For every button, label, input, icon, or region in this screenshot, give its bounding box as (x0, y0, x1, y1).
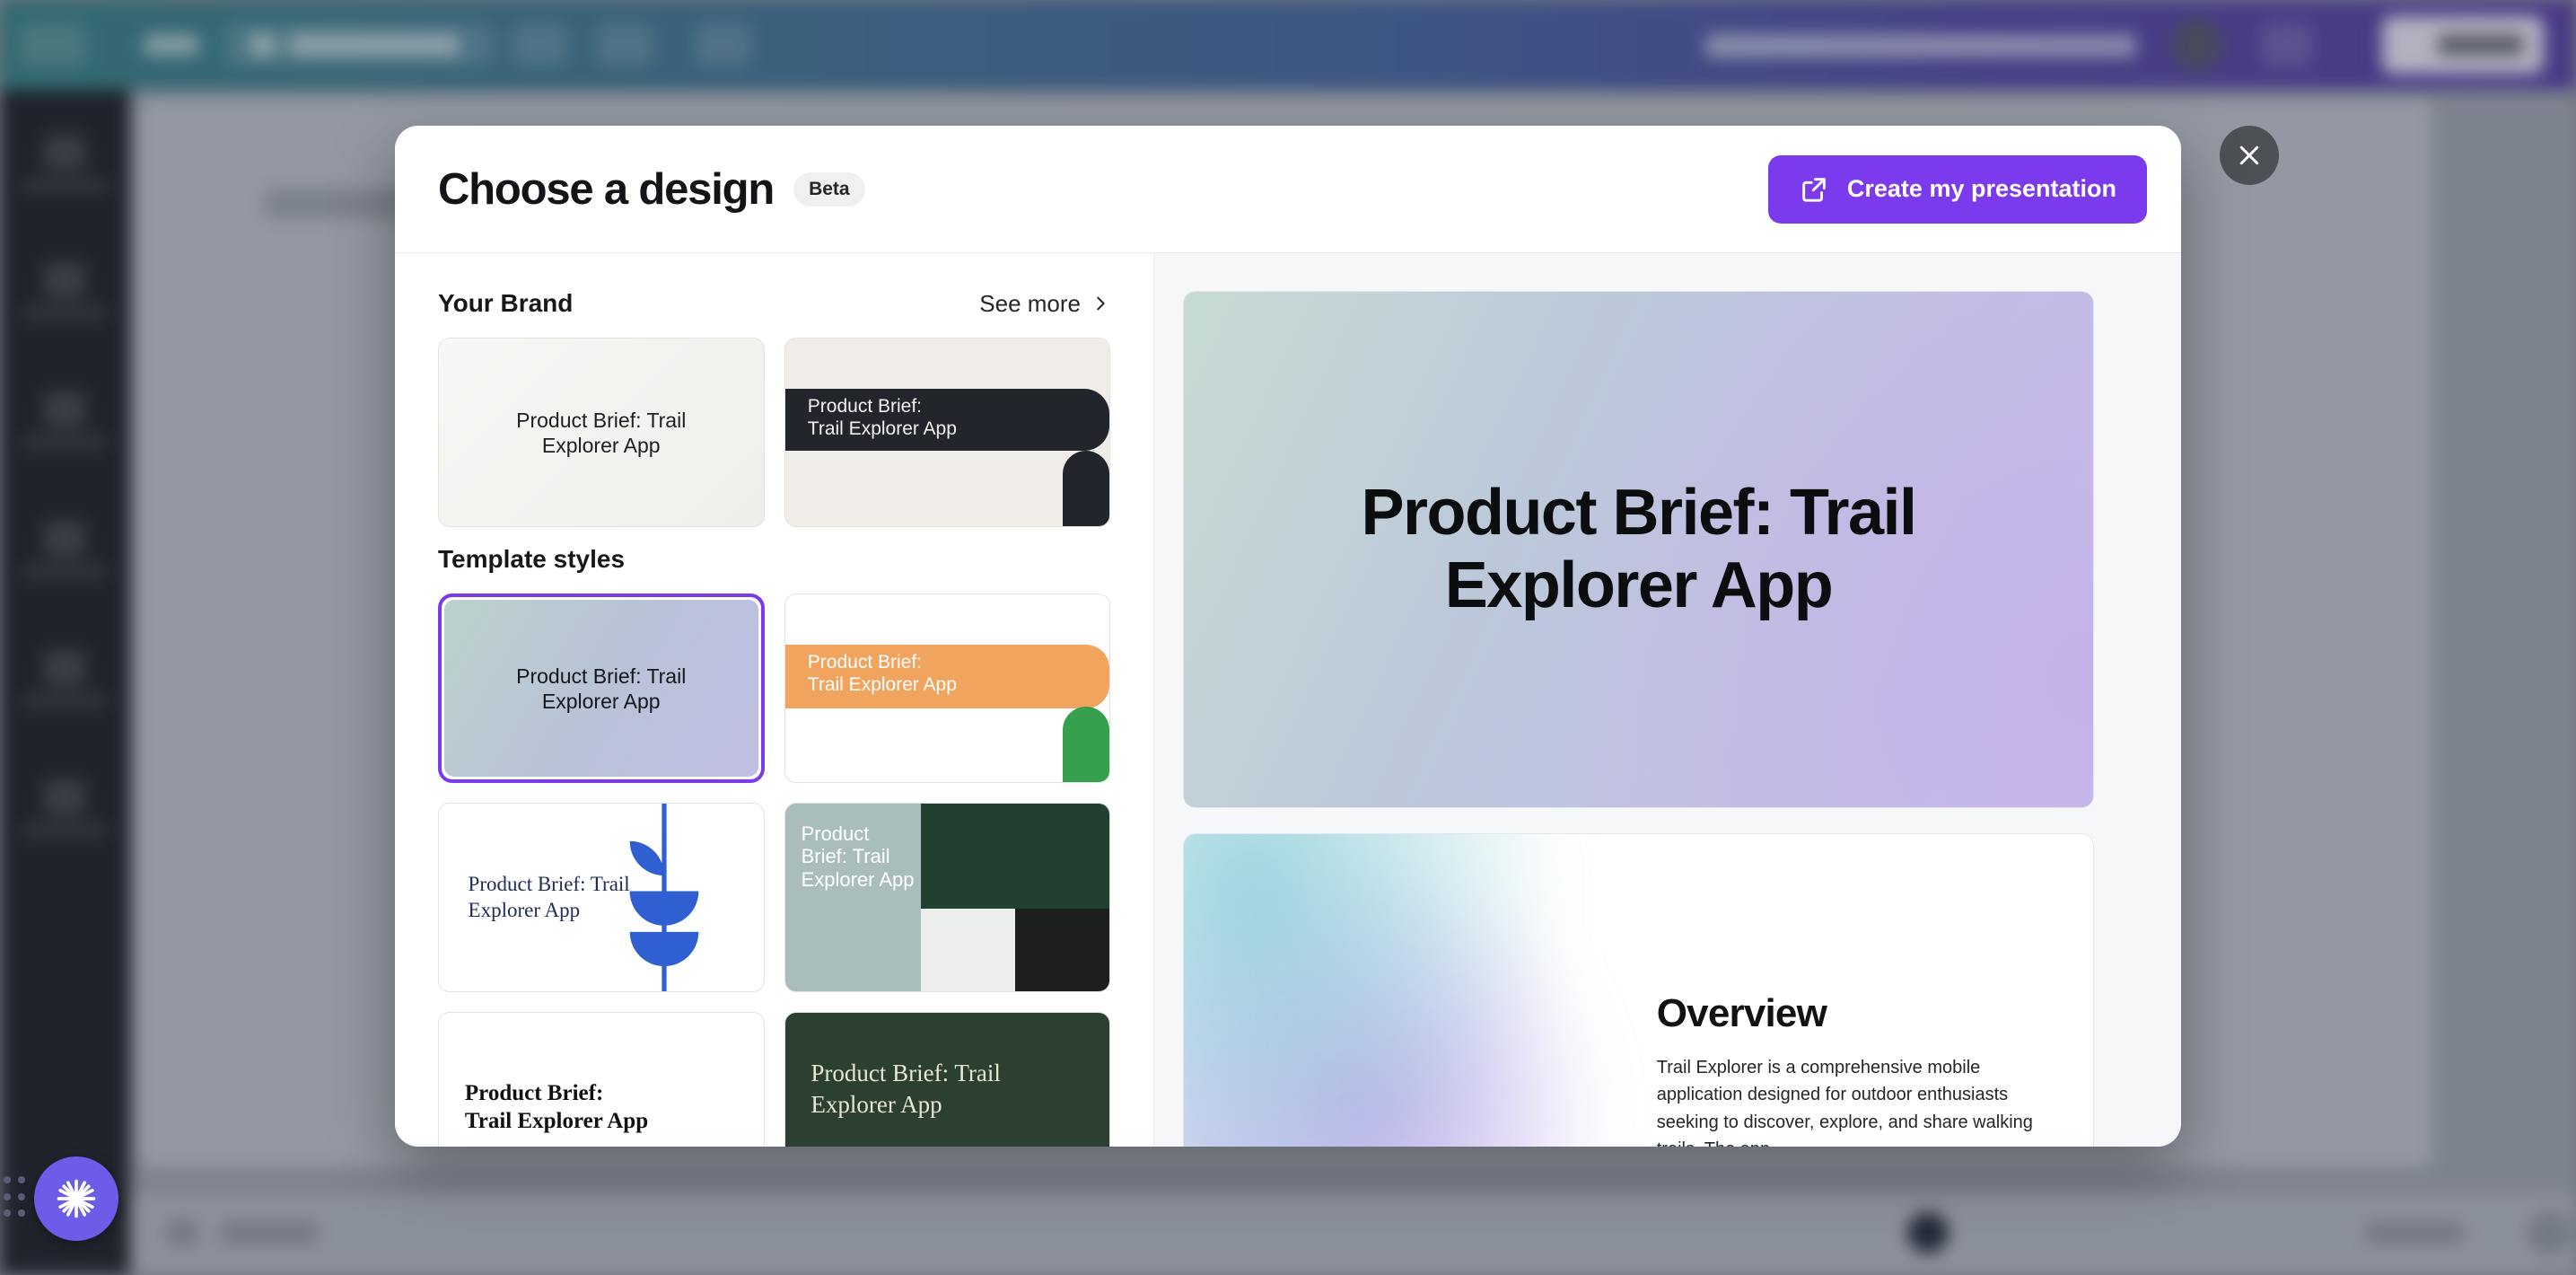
thumb-template-orange-text: Product Brief: Trail Explorer App (808, 651, 1081, 697)
modal-body: Your Brand See more Product Brief: Trail… (395, 253, 2181, 1147)
drag-dots-icon[interactable] (4, 1176, 27, 1221)
preview-overview-heading: Overview (1657, 991, 2057, 1036)
ai-assistant-button[interactable] (34, 1156, 118, 1241)
beta-badge: Beta (793, 172, 865, 207)
choose-a-design-modal: Choose a design Beta Create my presentat… (395, 126, 2181, 1147)
thumb-template-bold-serif-text: Product Brief: Trail Explorer App (465, 1078, 724, 1135)
thumb-dark-blob-shape (1063, 451, 1109, 526)
create-my-presentation-label: Create my presentation (1847, 175, 2116, 203)
sparkle-asterisk-icon (53, 1175, 100, 1222)
thumb-template-blocks[interactable]: Product Brief: Trail Explorer App (784, 803, 1111, 992)
close-icon (2236, 142, 2263, 169)
your-brand-title: Your Brand (438, 289, 573, 318)
create-my-presentation-button[interactable]: Create my presentation (1768, 155, 2147, 224)
see-more-label: See more (979, 290, 1081, 318)
see-more-link[interactable]: See more (979, 290, 1110, 318)
block-black (1015, 909, 1109, 991)
preview-slide-overview: Overview Trail Explorer is a comprehensi… (1183, 833, 2094, 1147)
template-styles-grid: Product Brief: Trail Explorer App Produc… (438, 594, 1110, 1147)
thumb-template-orange-band[interactable]: Product Brief: Trail Explorer App (784, 594, 1111, 783)
thumb-template-bold-serif[interactable]: Product Brief: Trail Explorer App (438, 1012, 765, 1147)
thumb-template-gradient[interactable]: Product Brief: Trail Explorer App (438, 594, 765, 783)
thumb-brand-dark-band[interactable]: Product Brief: Trail Explorer App (784, 338, 1111, 527)
preview-overview-body: Trail Explorer is a comprehensive mobile… (1657, 1054, 2057, 1147)
block-light (921, 909, 1015, 991)
thumb-brand-light-text: Product Brief: Trail Explorer App (485, 407, 718, 457)
leaf-motif-icon (610, 804, 718, 991)
external-link-icon (1799, 174, 1829, 205)
thumb-brand-light[interactable]: Product Brief: Trail Explorer App (438, 338, 765, 527)
chevron-right-icon (1091, 294, 1110, 313)
thumb-template-dark-green[interactable]: Product Brief: Trail Explorer App (784, 1012, 1111, 1147)
thumb-template-dark-green-text: Product Brief: Trail Explorer App (810, 1058, 1070, 1121)
thumb-template-gradient-text: Product Brief: Trail Explorer App (482, 663, 721, 713)
design-preview-panel[interactable]: Product Brief: Trail Explorer App Overvi… (1153, 253, 2181, 1147)
thumb-green-blob-shape (1063, 707, 1109, 782)
page-title: Choose a design (438, 164, 774, 215)
design-picker-panel[interactable]: Your Brand See more Product Brief: Trail… (395, 253, 1153, 1147)
your-brand-grid: Product Brief: Trail Explorer App Produc… (438, 338, 1110, 527)
thumb-brand-dark-text: Product Brief: Trail Explorer App (808, 395, 1081, 441)
template-styles-title: Template styles (438, 545, 1110, 574)
block-dark-green (921, 804, 1109, 909)
thumb-template-serif-leaf[interactable]: Product Brief: Trail Explorer App (438, 803, 765, 992)
preview-slide-title: Product Brief: Trail Explorer App (1183, 291, 2094, 808)
preview-slide-title-text: Product Brief: Trail Explorer App (1311, 477, 1966, 621)
preview-gradient-blob (1183, 833, 1687, 1147)
close-modal-button[interactable] (2220, 126, 2279, 185)
thumb-template-blocks-text: Product Brief: Trail Explorer App (802, 822, 918, 892)
modal-header: Choose a design Beta Create my presentat… (395, 126, 2181, 253)
your-brand-section-header: Your Brand See more (438, 289, 1110, 318)
